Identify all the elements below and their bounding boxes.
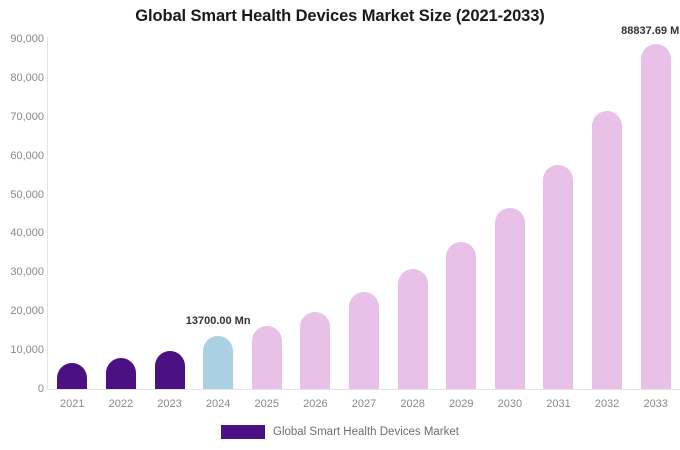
x-axis-tick: 2033 [643, 398, 667, 410]
y-axis-tick: 70,000 [0, 111, 44, 123]
x-axis-tick: 2027 [352, 398, 376, 410]
x-axis-tick: 2028 [400, 398, 424, 410]
bar-slot [486, 39, 535, 389]
legend-label-market: Global Smart Health Devices Market [273, 426, 459, 438]
y-axis-tick: 20,000 [0, 305, 44, 317]
bar-slot [48, 39, 97, 389]
x-axis-tick: 2026 [303, 398, 327, 410]
bar-slot [194, 39, 243, 389]
bar-slot [583, 39, 632, 389]
peak-value-annotation: 88837.69 Mn [621, 25, 680, 37]
y-axis-tick: 30,000 [0, 266, 44, 278]
y-axis-tick: 50,000 [0, 189, 44, 201]
x-axis-tick: 2032 [595, 398, 619, 410]
x-axis-tick: 2024 [206, 398, 230, 410]
bar-2029[interactable] [446, 242, 476, 389]
x-axis-tick: 2021 [60, 398, 84, 410]
chart-legend: Global Smart Health Devices Market [0, 425, 680, 439]
legend-swatch-market [221, 425, 265, 439]
bars-layer [48, 39, 680, 389]
x-axis-tick: 2030 [498, 398, 522, 410]
x-axis-tick: 2029 [449, 398, 473, 410]
bar-slot [97, 39, 146, 389]
bar-slot [291, 39, 340, 389]
chart-container: Global Smart Health Devices Market Size … [0, 0, 680, 450]
bar-2032[interactable] [592, 111, 622, 389]
bar-2025[interactable] [252, 326, 282, 389]
bar-2030[interactable] [495, 208, 525, 389]
bar-slot [631, 39, 680, 389]
chart-title: Global Smart Health Devices Market Size … [0, 7, 680, 26]
bar-2026[interactable] [300, 312, 330, 389]
bar-2021[interactable] [57, 363, 87, 389]
x-axis-tick: 2023 [157, 398, 181, 410]
bar-2033[interactable] [641, 44, 671, 389]
x-axis: 2021202220232024202520262027202820292030… [48, 398, 680, 414]
bar-2027[interactable] [349, 292, 379, 389]
bar-slot [534, 39, 583, 389]
y-axis-tick: 60,000 [0, 150, 44, 162]
bar-2031[interactable] [543, 165, 573, 389]
x-axis-tick: 2022 [109, 398, 133, 410]
y-axis-tick: 40,000 [0, 227, 44, 239]
y-axis: 010,00020,00030,00040,00050,00060,00070,… [0, 0, 44, 450]
x-axis-line [47, 389, 680, 390]
y-axis-tick: 10,000 [0, 344, 44, 356]
bar-value-label-2024: 13700.00 Mn [186, 315, 251, 327]
bar-slot [340, 39, 389, 389]
bar-2022[interactable] [106, 358, 136, 389]
bar-2024[interactable] [203, 336, 233, 389]
bar-slot [388, 39, 437, 389]
bar-slot [437, 39, 486, 389]
y-axis-tick: 80,000 [0, 72, 44, 84]
y-axis-tick: 90,000 [0, 33, 44, 45]
y-axis-tick: 0 [0, 383, 44, 395]
x-axis-tick: 2031 [546, 398, 570, 410]
bar-2028[interactable] [398, 269, 428, 389]
bar-slot [242, 39, 291, 389]
bar-slot [145, 39, 194, 389]
bar-2023[interactable] [155, 351, 185, 389]
x-axis-tick: 2025 [255, 398, 279, 410]
